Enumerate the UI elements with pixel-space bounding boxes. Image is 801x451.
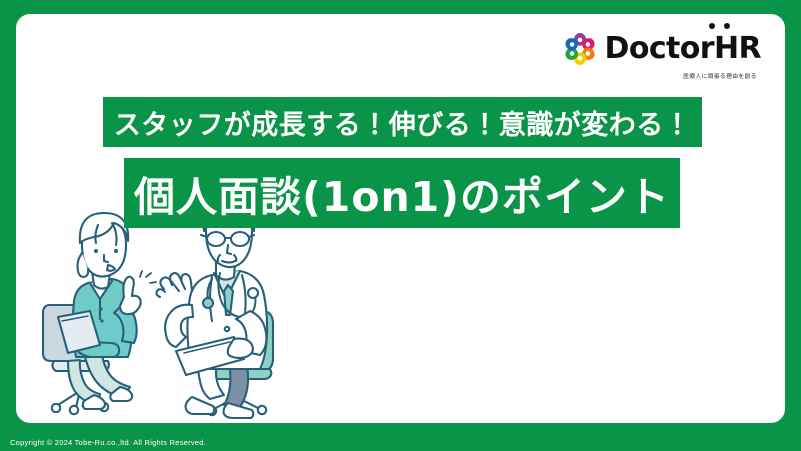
logo-wordmark: DoctorHR [605,34,761,64]
title-banner: 個人面談(1on1)のポイント [124,158,680,228]
slide-card: DoctorHR 医療人に頑張る理由を創る [16,14,785,423]
flower-petals-logo-icon [561,30,599,68]
logo-row: DoctorHR [561,30,761,68]
subtitle-banner: スタッフが成長する！伸びる！意識が変わる！ [103,97,702,147]
logo-tagline: 医療人に頑張る理由を創る [683,71,757,80]
copyright-footer: Copyright © 2024 Tobe-Ru.co.,ltd. All Ri… [10,438,206,447]
brand-logo: DoctorHR 医療人に頑張る理由を創る [577,30,761,80]
logo-person-dots-icon [709,23,735,31]
